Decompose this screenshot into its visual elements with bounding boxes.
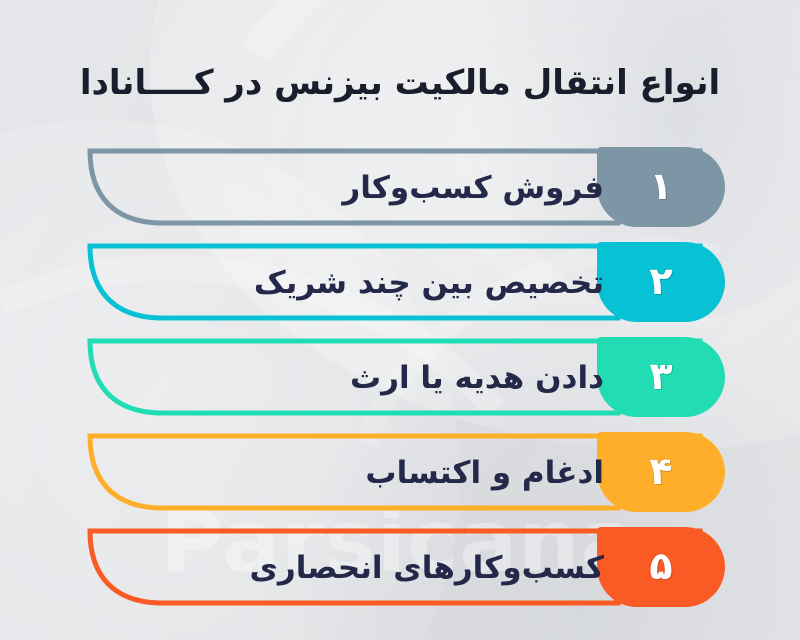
list-item[interactable]: ۲تخصیص بین چند شریک bbox=[0, 235, 800, 330]
list-item-label: تخصیص بین چند شریک bbox=[118, 235, 604, 330]
number-badge: ۱ bbox=[597, 147, 725, 227]
number-badge: ۴ bbox=[597, 432, 725, 512]
list-item[interactable]: ۳دادن هدیه یا ارث bbox=[0, 330, 800, 425]
badge-number: ۳ bbox=[597, 337, 725, 417]
list-item-label: دادن هدیه یا ارث bbox=[118, 330, 604, 425]
list-item[interactable]: ۵کسب‌وکارهای انحصاری bbox=[0, 520, 800, 615]
list-item-label: کسب‌وکارهای انحصاری bbox=[118, 520, 604, 615]
badge-number: ۱ bbox=[597, 147, 725, 227]
list-container: ۱فروش کسب‌وکار۲تخصیص بین چند شریک۳دادن ه… bbox=[0, 140, 800, 615]
number-badge: ۲ bbox=[597, 242, 725, 322]
list-item[interactable]: ۴ادغام و اکتساب bbox=[0, 425, 800, 520]
infographic-canvas: Parsicana انواع انتقال مالکیت بیزنس در ک… bbox=[0, 0, 800, 640]
badge-number: ۵ bbox=[597, 527, 725, 607]
list-item-label: فروش کسب‌وکار bbox=[118, 140, 604, 235]
page-title: انواع انتقال مالکیت بیزنس در کــــانادا bbox=[0, 61, 800, 106]
list-item[interactable]: ۱فروش کسب‌وکار bbox=[0, 140, 800, 235]
number-badge: ۵ bbox=[597, 527, 725, 607]
badge-number: ۲ bbox=[597, 242, 725, 322]
number-badge: ۳ bbox=[597, 337, 725, 417]
badge-number: ۴ bbox=[597, 432, 725, 512]
list-item-label: ادغام و اکتساب bbox=[118, 425, 604, 520]
